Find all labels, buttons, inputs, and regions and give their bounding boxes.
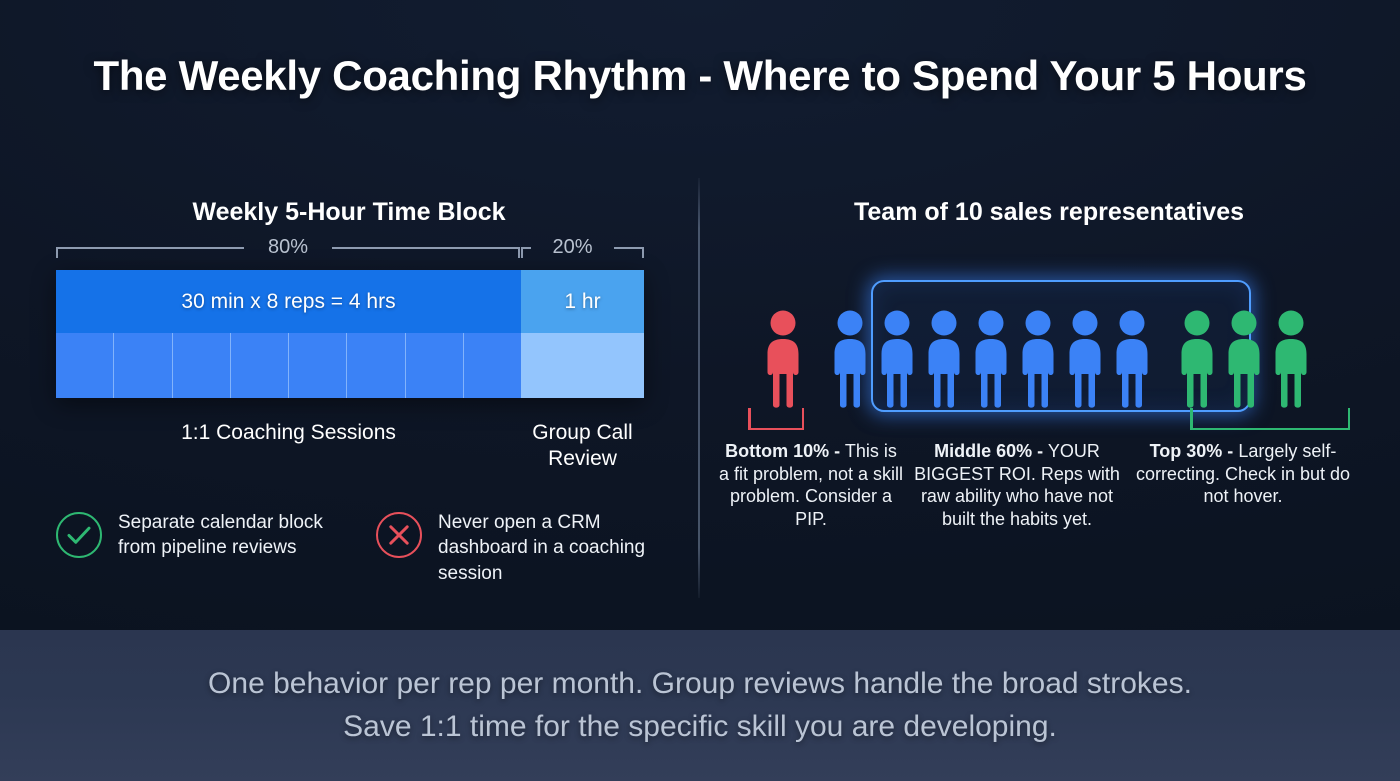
- footer-line-1: One behavior per rep per month. Group re…: [208, 663, 1192, 706]
- caption-bottom-10: Bottom 10% - This is a fit problem, not …: [718, 440, 904, 530]
- caption-middle-title: Middle 60% -: [934, 441, 1043, 461]
- infographic-canvas: The Weekly Coaching Rhythm - Where to Sp…: [0, 0, 1400, 781]
- person-icon-top: [1271, 308, 1311, 408]
- bracket-top-30: [1190, 408, 1350, 430]
- caption-top-title: Top 30% -: [1150, 441, 1234, 461]
- bracket-20-label: 20%: [531, 236, 614, 258]
- rep-segment: [464, 333, 521, 398]
- rep-segment: [173, 333, 231, 398]
- x-circle-icon: [376, 512, 422, 558]
- rep-segment: [406, 333, 464, 398]
- bracket-20-percent: 20%: [521, 236, 644, 258]
- caption-middle-60: Middle 60% - YOUR BIGGEST ROI. Reps with…: [904, 440, 1130, 530]
- rule-text-do: Separate calendar block from pipeline re…: [118, 508, 346, 561]
- bracket-bottom-10: [748, 408, 804, 430]
- bar-coaching-label: 30 min x 8 reps = 4 hrs: [56, 270, 521, 333]
- segment-captions: Bottom 10% - This is a fit problem, not …: [718, 440, 1388, 530]
- bar-coaching-rep-segments: [56, 333, 521, 398]
- person-icon-middle: [830, 308, 870, 408]
- person-icon-middle: [1112, 308, 1152, 408]
- bar-segment-group-call[interactable]: 1 hr: [521, 270, 644, 398]
- bar-caption-coaching: 1:1 Coaching Sessions: [56, 420, 521, 446]
- bar-caption-group: Group Call Review: [521, 420, 644, 471]
- rules-list: Separate calendar block from pipeline re…: [56, 508, 666, 586]
- rep-segment: [56, 333, 114, 398]
- bar-group-label: 1 hr: [521, 270, 644, 333]
- footer-band: One behavior per rep per month. Group re…: [0, 630, 1400, 781]
- team-pictogram: [758, 300, 1358, 410]
- left-panel-heading: Weekly 5-Hour Time Block: [0, 198, 698, 227]
- caption-bottom-title: Bottom 10% -: [725, 441, 840, 461]
- rule-item-dont: Never open a CRM dashboard in a coaching…: [376, 508, 666, 586]
- person-icon-bottom: [763, 308, 803, 408]
- person-icon-top: [1224, 308, 1264, 408]
- time-block-bar: 30 min x 8 reps = 4 hrs 1 hr: [56, 270, 644, 398]
- caption-top-30: Top 30% - Largely self-correcting. Check…: [1130, 440, 1356, 530]
- rep-segment: [231, 333, 289, 398]
- bracket-80-label: 80%: [244, 236, 332, 258]
- footer-text: One behavior per rep per month. Group re…: [208, 663, 1192, 748]
- rep-segment: [289, 333, 347, 398]
- bar-segment-coaching[interactable]: 30 min x 8 reps = 4 hrs: [56, 270, 521, 398]
- footer-line-2: Save 1:1 time for the specific skill you…: [208, 706, 1192, 749]
- bracket-80-percent: 80%: [56, 236, 520, 258]
- right-panel: Team of 10 sales representatives Bottom …: [698, 0, 1400, 630]
- right-panel-heading: Team of 10 sales representatives: [698, 198, 1400, 227]
- person-icon-middle: [1018, 308, 1058, 408]
- person-icon-top: [1177, 308, 1217, 408]
- person-row: [758, 300, 1358, 410]
- person-icon-middle: [1065, 308, 1105, 408]
- rep-segment: [114, 333, 172, 398]
- rule-item-do: Separate calendar block from pipeline re…: [56, 508, 346, 586]
- rep-segment: [347, 333, 405, 398]
- person-icon-middle: [924, 308, 964, 408]
- check-circle-icon: [56, 512, 102, 558]
- bar-group-bottom-band: [521, 333, 644, 398]
- rule-text-dont: Never open a CRM dashboard in a coaching…: [438, 508, 666, 586]
- person-icon-middle: [877, 308, 917, 408]
- person-icon-middle: [971, 308, 1011, 408]
- left-panel: Weekly 5-Hour Time Block 80% 20%: [0, 0, 698, 630]
